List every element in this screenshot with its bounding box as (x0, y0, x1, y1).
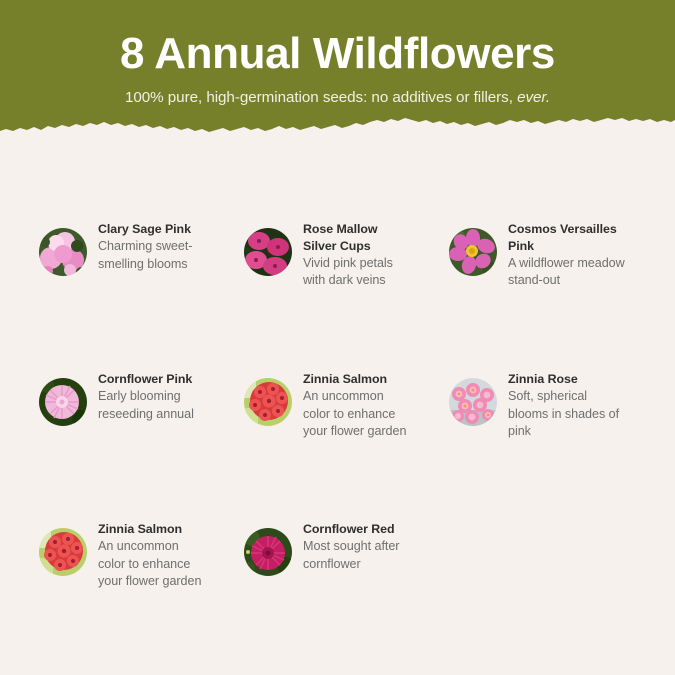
cornflower-pink-flower-photo-icon (39, 378, 87, 426)
list-item-description: Most sought after cornflower (303, 538, 410, 573)
clary-sage-pink-flower-photo-icon (39, 228, 87, 276)
list-item-title: Zinnia Salmon (303, 371, 410, 388)
list-item[interactable]: Zinnia Rose Soft, spherical blooms in sh… (410, 350, 675, 500)
list-item-text: Zinnia Salmon An uncommon color to enhan… (303, 371, 410, 441)
list-item-text: Clary Sage Pink Charming sweet-smelling … (98, 221, 210, 273)
list-item[interactable]: Cosmos Versailles Pink A wildflower mead… (410, 200, 675, 350)
list-item[interactable]: Cornflower Pink Early blooming reseeding… (0, 350, 205, 500)
list-item-title: Clary Sage Pink (98, 221, 210, 238)
list-item-title: Cornflower Red (303, 521, 410, 538)
zinnia-salmon-flower-photo-icon (244, 378, 292, 426)
list-item[interactable]: Rose Mallow Silver Cups Vivid pink petal… (205, 200, 410, 350)
list-item-text: Zinnia Salmon An uncommon color to enhan… (98, 521, 205, 591)
page-header: 8 Annual Wildflowers 100% pure, high-ger… (0, 0, 675, 155)
list-item-text: Rose Mallow Silver Cups Vivid pink petal… (303, 221, 410, 290)
page-subtitle: 100% pure, high-germination seeds: no ad… (125, 89, 550, 106)
list-item-title: Cornflower Pink (98, 371, 205, 388)
list-item-description: Early blooming reseeding annual (98, 388, 205, 423)
torn-paper-edge-divider (0, 109, 675, 155)
list-item-title: Rose Mallow Silver Cups (303, 221, 410, 254)
list-item-description: Vivid pink petals with dark veins (303, 255, 410, 290)
list-item-description: A wildflower meadow stand-out (508, 255, 626, 290)
cosmos-versailles-pink-flower-photo-icon (449, 228, 497, 276)
wildflower-grid: Clary Sage Pink Charming sweet-smelling … (0, 200, 675, 650)
list-item-title: Zinnia Rose (508, 371, 626, 388)
list-item-text: Cornflower Pink Early blooming reseeding… (98, 371, 205, 423)
rose-mallow-silver-cups-flower-photo-icon (244, 228, 292, 276)
list-item-text: Cosmos Versailles Pink A wildflower mead… (508, 221, 626, 290)
list-item-description: An uncommon color to enhance your flower… (303, 388, 410, 441)
zinnia-salmon-flower-photo-icon (39, 528, 87, 576)
list-item-description: Soft, spherical blooms in shades of pink (508, 388, 626, 441)
list-item[interactable]: Cornflower Red Most sought after cornflo… (205, 500, 410, 650)
page-title: 8 Annual Wildflowers (120, 31, 555, 78)
list-item-title: Zinnia Salmon (98, 521, 205, 538)
list-item-title: Cosmos Versailles Pink (508, 221, 626, 254)
list-item-description: An uncommon color to enhance your flower… (98, 538, 205, 591)
list-item-text: Zinnia Rose Soft, spherical blooms in sh… (508, 371, 626, 441)
cornflower-red-flower-photo-icon (244, 528, 292, 576)
list-item-description: Charming sweet-smelling blooms (98, 238, 210, 273)
zinnia-rose-flower-photo-icon (449, 378, 497, 426)
subtitle-emphasis-text: ever. (517, 89, 550, 106)
list-item[interactable]: Zinnia Salmon An uncommon color to enhan… (205, 350, 410, 500)
subtitle-main-text: 100% pure, high-germination seeds: no ad… (125, 89, 517, 106)
list-item[interactable]: Clary Sage Pink Charming sweet-smelling … (0, 200, 205, 350)
list-item[interactable]: Zinnia Salmon An uncommon color to enhan… (0, 500, 205, 650)
list-item-text: Cornflower Red Most sought after cornflo… (303, 521, 410, 573)
